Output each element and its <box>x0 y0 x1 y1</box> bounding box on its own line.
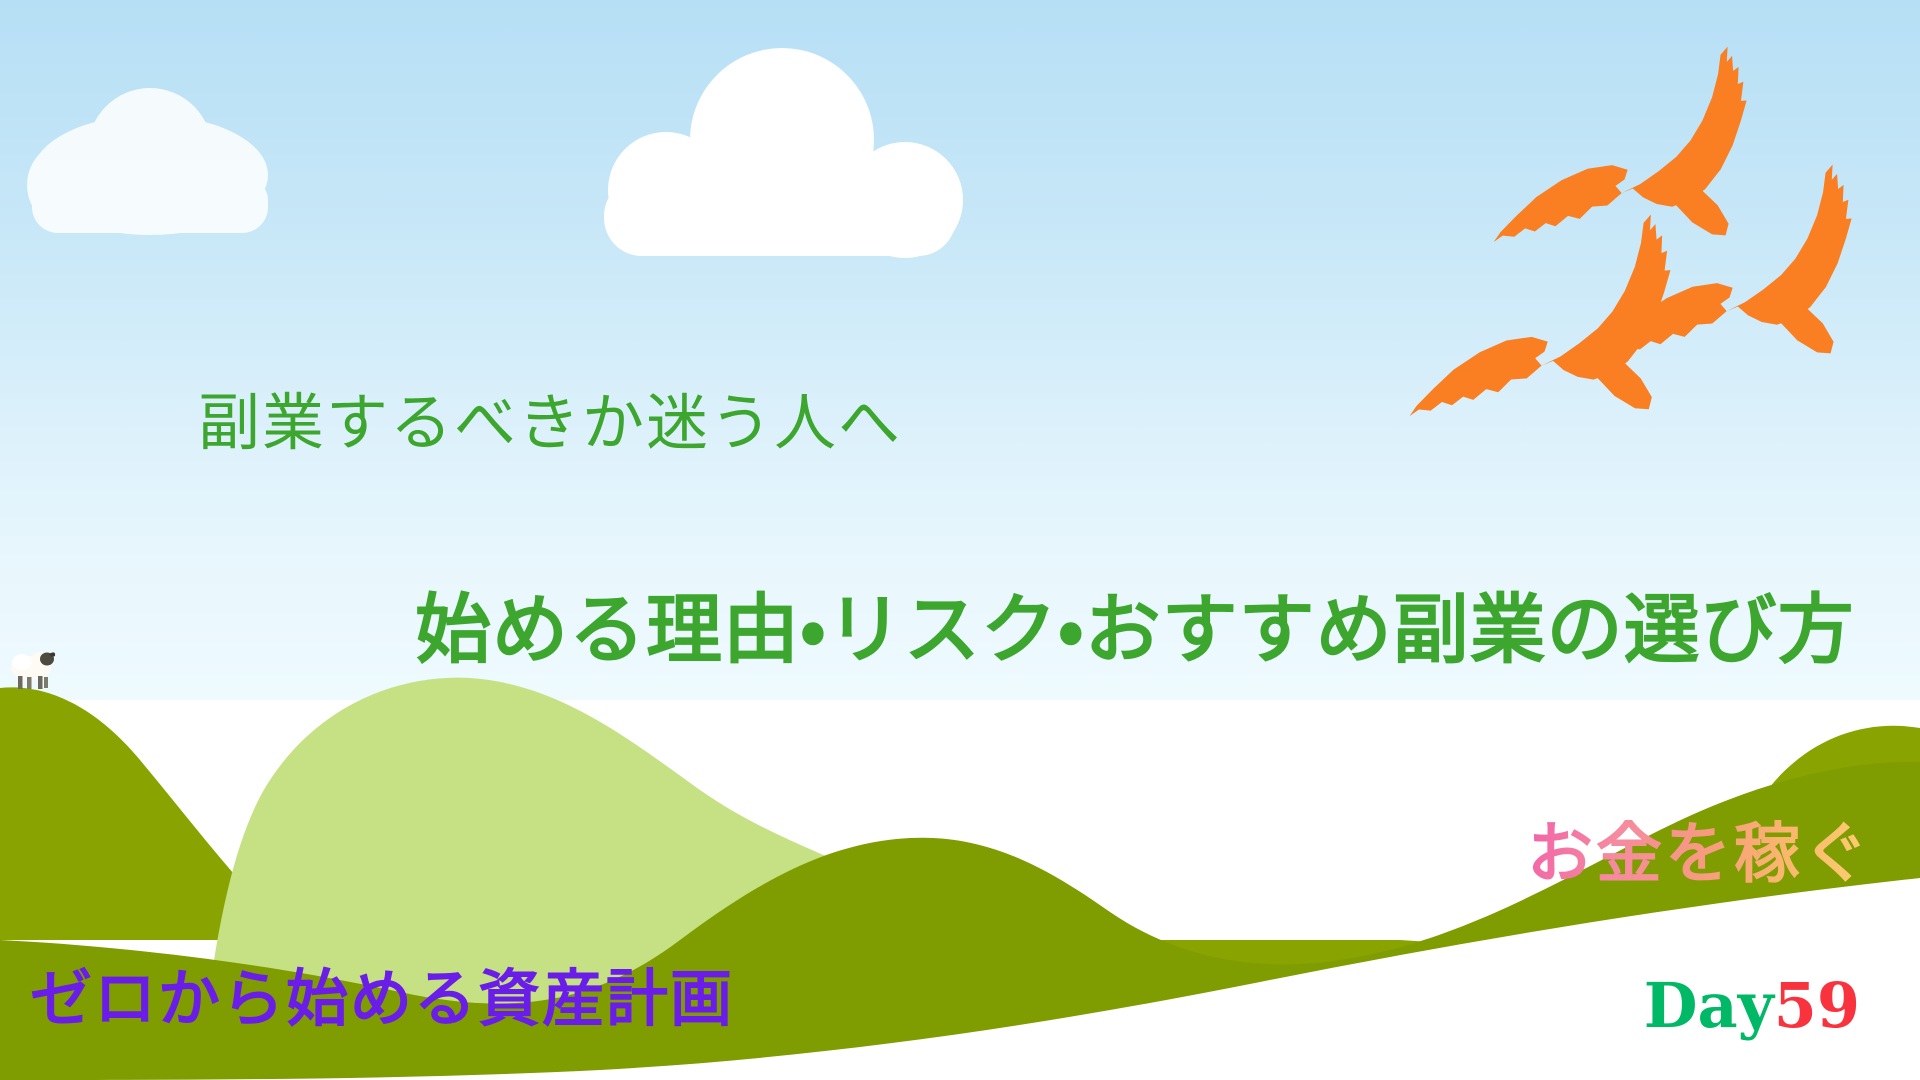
day-counter: Day59 <box>1644 975 1860 1037</box>
bird-bottom-icon <box>1397 213 1680 425</box>
brand-name: ゼロから始める資産計画 <box>30 968 734 1030</box>
day-number: 59 <box>1774 969 1860 1042</box>
day-label: Day <box>1644 969 1774 1042</box>
cloud-left-icon <box>27 88 268 235</box>
eyecatch-canvas: 副業するべきか迷う人へ 始める理由・リスク・おすすめ副業の選び方 お金を稼ぐ ゼ… <box>0 0 1920 1080</box>
subtitle-text: 副業するべきか迷う人へ <box>198 392 902 454</box>
bird-top-icon <box>1481 46 1756 252</box>
tagline-text: お金を稼ぐ <box>1527 820 1872 886</box>
page-title: 始める理由・リスク・おすすめ副業の選び方 <box>415 592 1855 668</box>
scene-illustration <box>0 0 1920 1080</box>
sheep-icon <box>11 652 55 689</box>
cloud-center-icon <box>604 48 963 258</box>
